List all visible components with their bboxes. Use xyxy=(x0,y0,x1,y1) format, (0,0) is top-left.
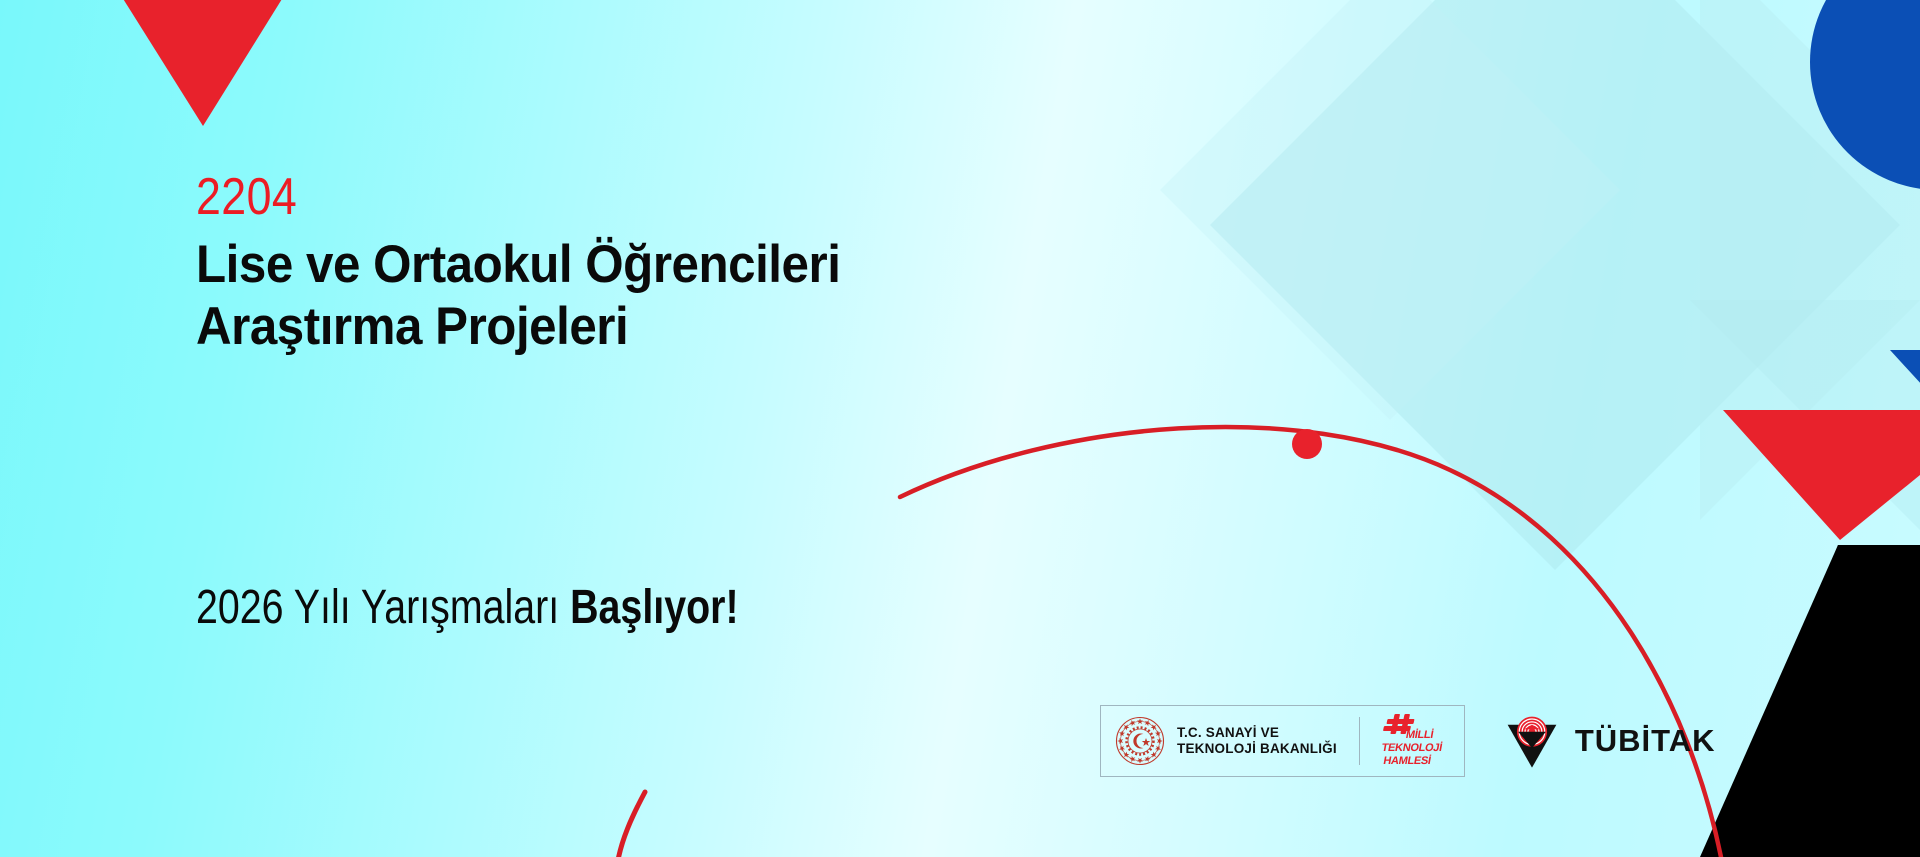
logo-strip: T.C. SANAYİ VETEKNOLOJİ BAKANLIĞI MİLLİ … xyxy=(1100,705,1716,777)
banner-text-block: 2204 Lise ve Ortaokul Öğrencileri Araştı… xyxy=(196,170,1096,358)
banner-subtitle: 2026 Yılı Yarışmaları Başlıyor! xyxy=(196,580,739,636)
ministry-name-line-2: TEKNOLOJİ BAKANLIĞI xyxy=(1177,741,1337,756)
milli-teknoloji-hamlesi-mark: MİLLİ TEKNOLOJİ HAMLESİ xyxy=(1382,712,1450,770)
headline-line-1: Lise ve Ortaokul Öğrencileri xyxy=(196,234,1033,296)
red-short-stroke-bottom-left xyxy=(618,792,645,857)
red-dot xyxy=(1292,429,1322,459)
subtitle-prefix: 2026 Yılı Yarışmaları xyxy=(196,581,570,634)
logo-divider xyxy=(1359,717,1360,765)
tubitak-triangle-spiral-mark xyxy=(1503,712,1561,770)
turkish-republic-star-crescent-gear-emblem xyxy=(1115,716,1165,766)
red-triangle-right xyxy=(1723,410,1920,540)
black-triangle-right-lower xyxy=(1700,545,1920,857)
svg-text:TEKNOLOJİ: TEKNOLOJİ xyxy=(1382,741,1443,754)
tubitak-wordmark: TÜBİTAK xyxy=(1575,723,1716,759)
ministry-name-line-1: T.C. SANAYİ VE xyxy=(1177,725,1279,740)
svg-text:HAMLESİ: HAMLESİ xyxy=(1382,754,1432,767)
ministry-name: T.C. SANAYİ VETEKNOLOJİ BAKANLIĞI xyxy=(1177,725,1337,757)
page-title: Lise ve Ortaokul Öğrencileri Araştırma P… xyxy=(196,234,1033,358)
tubitak-logo: TÜBİTAK xyxy=(1503,712,1716,770)
ministry-logo: T.C. SANAYİ VETEKNOLOJİ BAKANLIĞI MİLLİ … xyxy=(1100,705,1465,777)
program-code: 2204 xyxy=(196,170,970,224)
red-triangle-top-left xyxy=(105,0,300,126)
headline-line-2: Araştırma Projeleri xyxy=(196,296,1033,358)
promo-banner: 2204 Lise ve Ortaokul Öğrencileri Araştı… xyxy=(0,0,1920,857)
subtitle-emphasis: Başlıyor! xyxy=(570,581,738,634)
svg-text:MİLLİ: MİLLİ xyxy=(1405,728,1435,741)
